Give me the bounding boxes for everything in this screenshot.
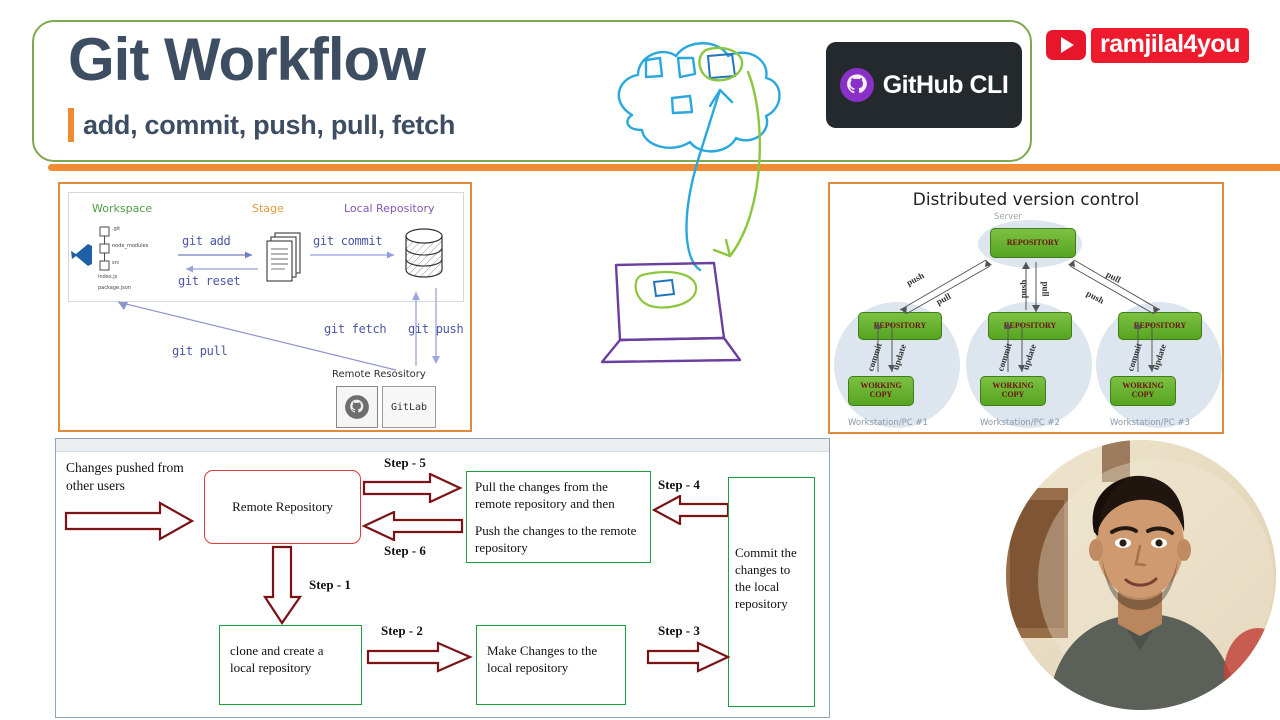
git-add-arrow <box>178 250 260 260</box>
step-3-arrow <box>646 641 732 673</box>
laptop-highlight <box>636 272 697 307</box>
commit-box-text: Commit the changes to the local reposito… <box>735 544 808 613</box>
distributed-version-control-panel: Distributed version control Server REPOS… <box>828 182 1224 434</box>
step-3-label: Step - 3 <box>658 623 700 639</box>
github-cli-label: GitHub CLI <box>883 71 1009 100</box>
cmd-git-push: git push <box>408 322 463 336</box>
github-octocat-icon <box>344 394 370 420</box>
cloud-file-3 <box>672 96 692 113</box>
section-label-local-repository: Local Repository <box>344 202 435 215</box>
remote-repository-title: Remote Resository <box>332 369 426 380</box>
file-item-1: node_modules <box>112 243 148 249</box>
workstation-2-label: Workstation/PC #2 <box>980 418 1060 428</box>
vscode-icon <box>70 242 94 268</box>
git-pull-arrow <box>110 296 400 376</box>
make-changes-box: Make Changes to the local repository <box>476 625 626 705</box>
cmd-git-add: git add <box>182 234 230 248</box>
step-4-arrow <box>652 495 730 525</box>
cloud-file-4 <box>708 54 735 78</box>
subtitle-row: add, commit, push, pull, fetch <box>68 108 455 142</box>
youtube-channel-name[interactable]: ramjilal4you <box>1091 28 1249 63</box>
subtitle: add, commit, push, pull, fetch <box>83 110 455 141</box>
cmd-git-commit: git commit <box>313 234 382 248</box>
file-item-3: index.js <box>98 274 117 280</box>
dvc-title: Distributed version control <box>830 190 1222 210</box>
step-4-label: Step - 4 <box>658 477 700 493</box>
changes-pushed-note: Changes pushed from other users <box>66 459 196 494</box>
ws2-push-label: push <box>1018 280 1028 299</box>
panel-header-strip <box>56 439 829 452</box>
file-item-4: package.json <box>98 285 131 291</box>
file-item-0: .git <box>112 226 120 232</box>
git-steps-panel: Changes pushed from other users Remote R… <box>55 438 830 718</box>
commit-box: Commit the changes to the local reposito… <box>728 477 815 707</box>
incoming-changes-arrow <box>64 501 204 543</box>
laptop-base <box>602 338 740 362</box>
section-label-workspace: Workspace <box>92 202 152 215</box>
git-reset-arrow <box>178 264 260 274</box>
step-5-label: Step - 5 <box>384 455 426 471</box>
github-octocat-icon <box>840 68 874 102</box>
git-commit-arrow <box>310 250 400 260</box>
pull-push-box: Pull the changes from the remote reposit… <box>466 471 651 563</box>
ws2-pull-label: pull <box>1041 281 1051 296</box>
step-5-arrow <box>362 473 466 503</box>
push-changes-text: Push the changes to the remote repositor… <box>475 522 642 556</box>
remote-repository-box: Remote Repository <box>204 470 361 544</box>
presenter-webcam-overlay <box>998 440 1280 720</box>
presenter-portrait <box>1006 440 1276 710</box>
push-arrow-head <box>710 90 732 106</box>
pull-changes-text: Pull the changes from the remote reposit… <box>475 478 642 512</box>
remote-gitlab-tile: GitLab <box>382 386 436 428</box>
git-areas-panel: Workspace Stage Local Repository .git no… <box>58 182 472 432</box>
green-highlight-file <box>699 48 742 80</box>
file-item-2: src <box>112 260 119 266</box>
cloud-file-2 <box>678 58 695 77</box>
workstation-1-label: Workstation/PC #1 <box>848 418 928 428</box>
laptop-file-icon <box>654 280 674 296</box>
cmd-git-pull: git pull <box>172 344 227 358</box>
pull-arrow-line <box>730 72 760 256</box>
push-arrow-line <box>686 90 720 270</box>
youtube-play-icon[interactable] <box>1046 30 1086 60</box>
hand-drawn-annotation <box>580 20 820 380</box>
page-title: Git Workflow <box>68 30 425 90</box>
workstation-3-label: Workstation/PC #3 <box>1110 418 1190 428</box>
section-label-stage: Stage <box>252 202 284 215</box>
subtitle-accent-bar <box>68 108 74 142</box>
documents-icon <box>265 229 305 284</box>
step-2-arrow <box>366 641 476 673</box>
step-6-label: Step - 6 <box>384 543 426 559</box>
pull-arrow-head <box>714 240 730 256</box>
youtube-brand[interactable]: ramjilal4you <box>1046 26 1249 64</box>
step-6-arrow <box>362 511 466 541</box>
laptop-screen <box>616 263 724 340</box>
cmd-git-reset: git reset <box>178 274 240 288</box>
remote-github-tile <box>336 386 378 428</box>
clone-box: clone and create a local repository <box>219 625 362 705</box>
step-2-label: Step - 2 <box>381 623 423 639</box>
step-1-label: Step - 1 <box>309 577 351 593</box>
presenter-avatar <box>1006 440 1276 710</box>
github-cli-badge: GitHub CLI <box>826 42 1022 128</box>
step-1-arrow <box>263 545 303 627</box>
database-cylinder-icon <box>400 226 450 286</box>
cloud-file-1 <box>646 58 662 77</box>
